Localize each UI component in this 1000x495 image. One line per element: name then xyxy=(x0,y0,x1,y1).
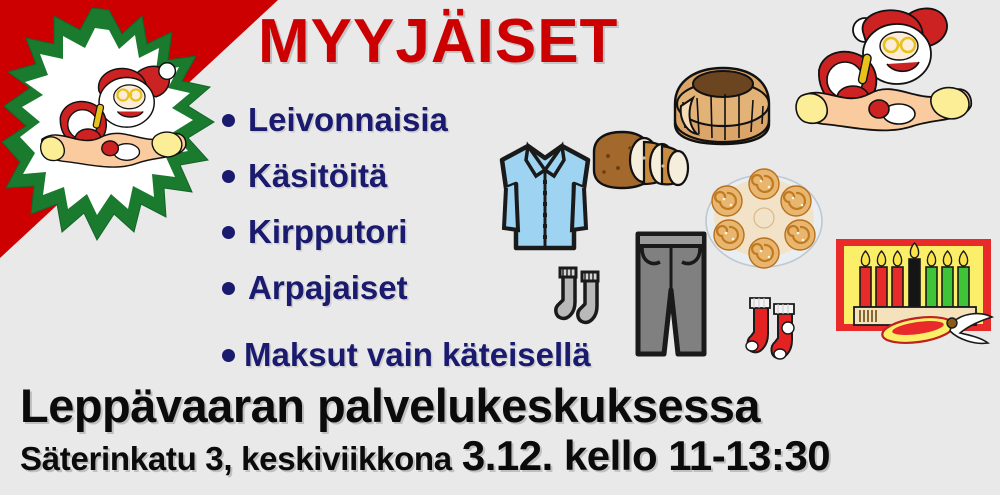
list-item-label: Arpajaiset xyxy=(248,269,408,307)
list-item-label: Käsitöitä xyxy=(248,157,387,195)
bullet-dot-icon xyxy=(222,226,235,239)
grey-socks xyxy=(553,260,611,330)
list-item: Arpajaiset xyxy=(222,260,448,316)
santa-in-starburst xyxy=(2,8,217,246)
offerings-list: Leivonnaisia Käsitöitä Kirpputori Arpaja… xyxy=(222,92,448,316)
bullet-dot-icon xyxy=(222,114,235,127)
list-item-label: Kirpputori xyxy=(248,213,407,251)
cash-only-label: Maksut vain käteisellä xyxy=(244,336,591,374)
bundt-cake xyxy=(663,58,781,150)
cash-only-note: Maksut vain käteisellä xyxy=(222,336,591,374)
list-item: Leivonnaisia xyxy=(222,92,448,148)
advent-candles xyxy=(834,237,996,349)
poster-canvas: MYYJÄISET Leivonnaisia Käsitöitä Kirpput… xyxy=(0,0,1000,495)
venue-name: Leppävaaran palvelukeskuksessa xyxy=(20,378,760,433)
bullet-dot-icon xyxy=(222,282,235,295)
cinnamon-buns xyxy=(703,163,825,271)
page-title: MYYJÄISET xyxy=(258,6,618,77)
grey-trousers xyxy=(630,228,712,360)
list-item: Kirpputori xyxy=(222,204,448,260)
list-item-label: Leivonnaisia xyxy=(248,101,448,139)
address-and-time: Säterinkatu 3, keskiviikkona 3.12. kello… xyxy=(20,432,830,480)
red-christmas-socks xyxy=(744,288,806,362)
list-item: Käsitöitä xyxy=(222,148,448,204)
date-time-text: 3.12. kello 11-13:30 xyxy=(462,432,830,480)
bullet-dot-icon xyxy=(222,349,235,362)
address-text: Säterinkatu 3, keskiviikkona xyxy=(20,440,452,478)
santa-top-right xyxy=(795,2,991,142)
bullet-dot-icon xyxy=(222,170,235,183)
blue-shirt xyxy=(492,136,598,260)
